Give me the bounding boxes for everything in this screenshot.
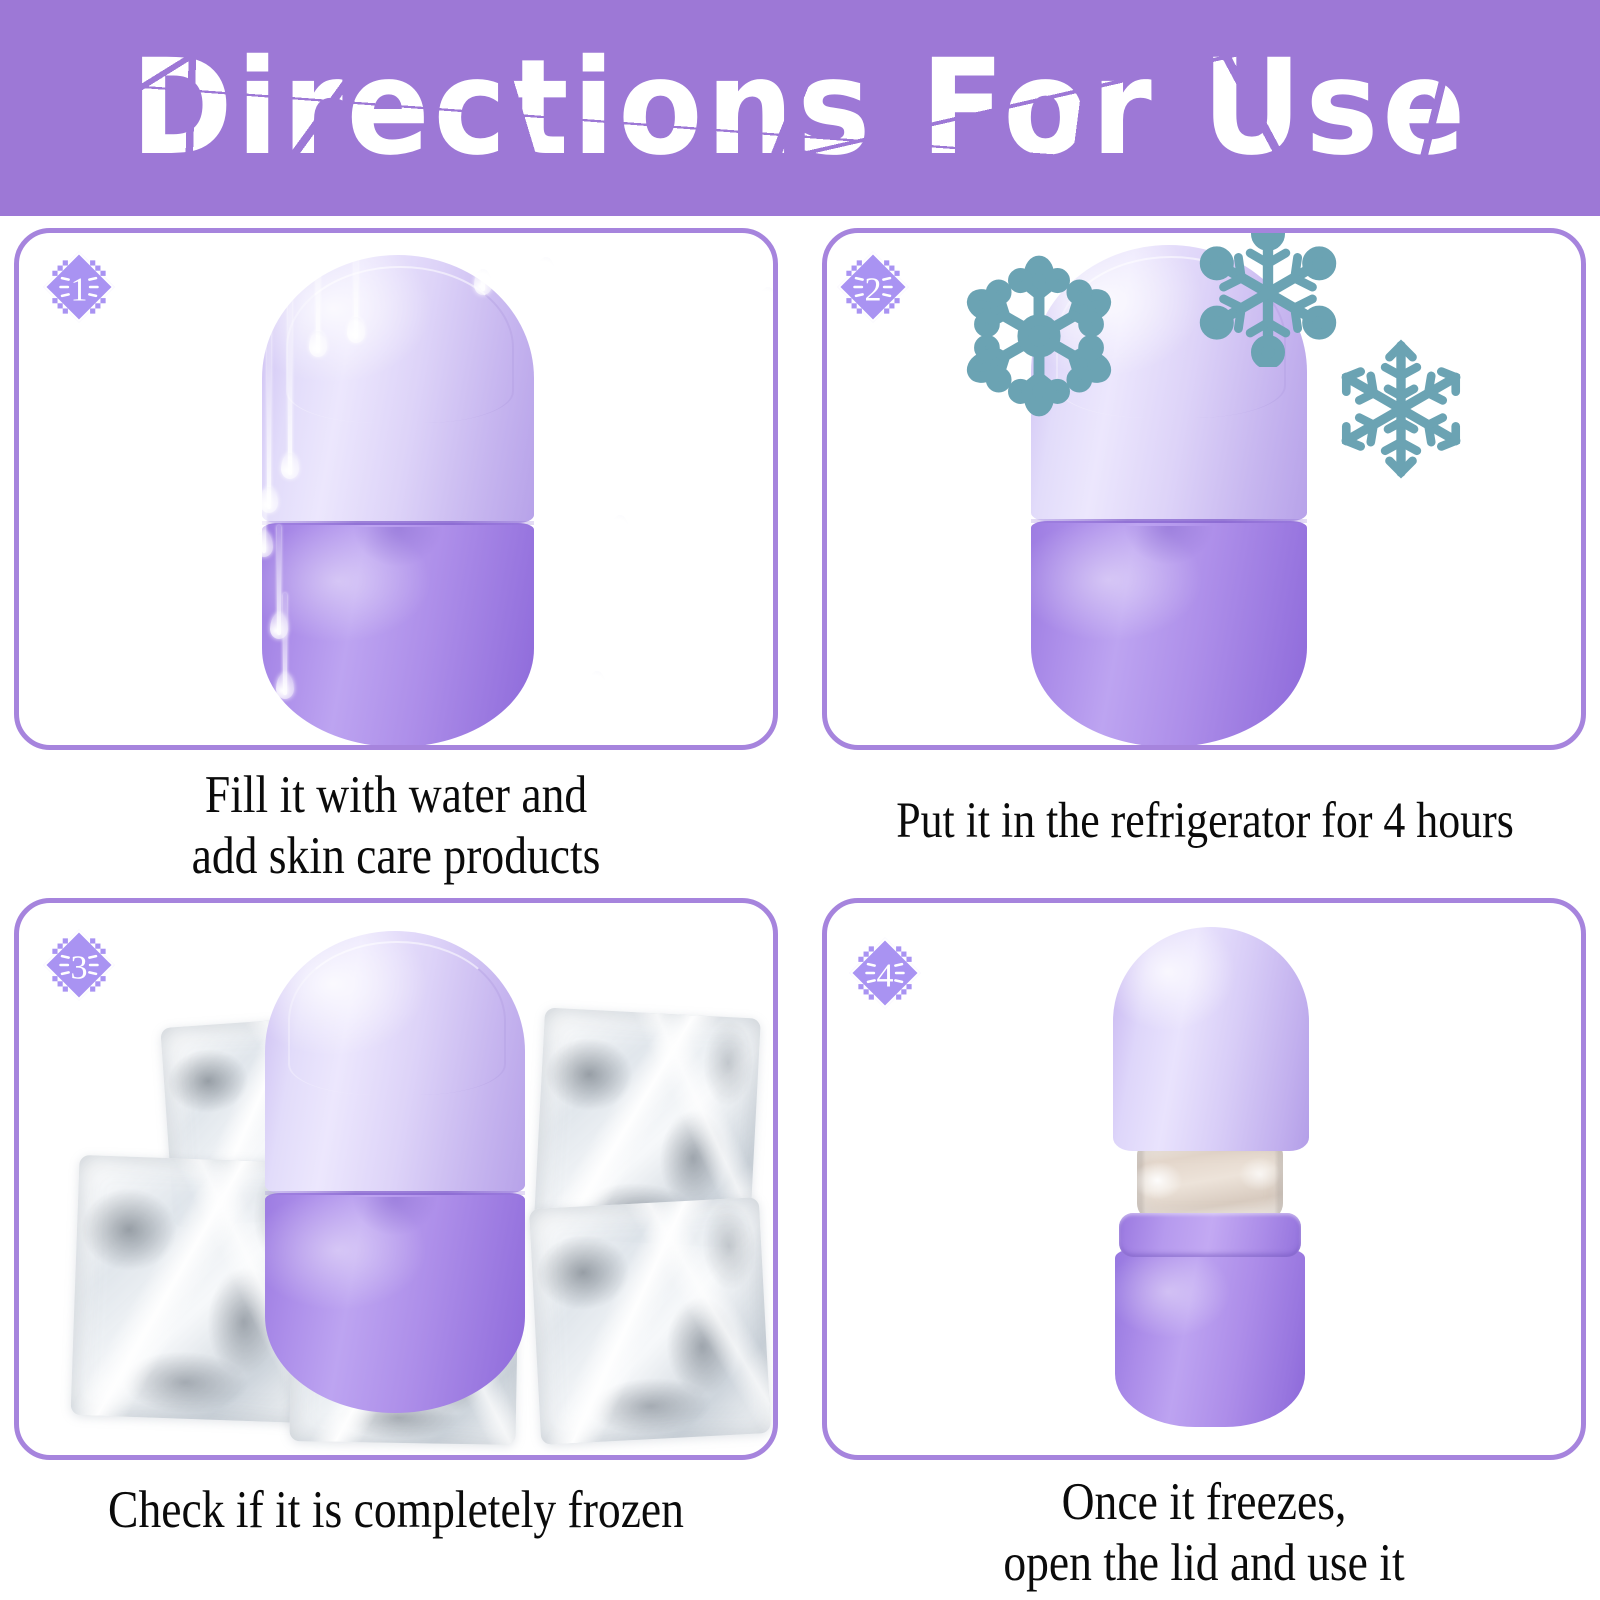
bottle-base xyxy=(262,523,534,747)
bottle-cap xyxy=(265,931,525,1193)
bottle-lid xyxy=(1113,927,1309,1151)
step-panel-4 xyxy=(822,898,1586,1460)
opened-bottle xyxy=(1091,927,1327,1427)
bottle-base xyxy=(265,1193,525,1413)
step-caption-1: Fill it with water and add skin care pro… xyxy=(67,765,724,887)
bottle-base xyxy=(1031,521,1307,747)
page-title: Directions For Use xyxy=(56,0,1544,216)
snowflake-icon xyxy=(955,252,1123,420)
bottle-seam xyxy=(1031,519,1307,523)
step-panel-1 xyxy=(14,228,778,750)
snowflake-icon xyxy=(1329,337,1473,481)
ice-cube-icon xyxy=(529,1197,771,1445)
step-caption-2: Put it in the refrigerator for 4 hours xyxy=(865,792,1544,851)
step-badge-3: 3 xyxy=(42,928,116,1002)
bottle-seam xyxy=(262,521,534,525)
bottle-seam xyxy=(265,1191,525,1195)
step-badge-1: 1 xyxy=(42,250,116,324)
step-panel-3 xyxy=(14,898,778,1460)
step-number-text: 4 xyxy=(876,957,893,994)
step-number-text: 1 xyxy=(70,271,87,308)
step-badge-2: 2 xyxy=(836,250,910,324)
bottle-cap xyxy=(262,255,534,523)
capsule-bottle xyxy=(262,255,534,747)
bottle-neck-ring xyxy=(1119,1213,1301,1257)
step-number-text: 2 xyxy=(864,271,881,308)
step-caption-3: Check if it is completely frozen xyxy=(67,1480,724,1541)
step-number-text: 3 xyxy=(70,949,87,986)
step-panel-2 xyxy=(822,228,1586,750)
step-badge-4: 4 xyxy=(848,936,922,1010)
snowflake-icon xyxy=(1194,228,1342,367)
capsule-bottle xyxy=(265,931,525,1413)
frozen-ice-core xyxy=(1137,1143,1283,1221)
step-caption-4: Once it freezes, open the lid and use it xyxy=(875,1472,1532,1594)
bottle-base xyxy=(1115,1249,1305,1427)
